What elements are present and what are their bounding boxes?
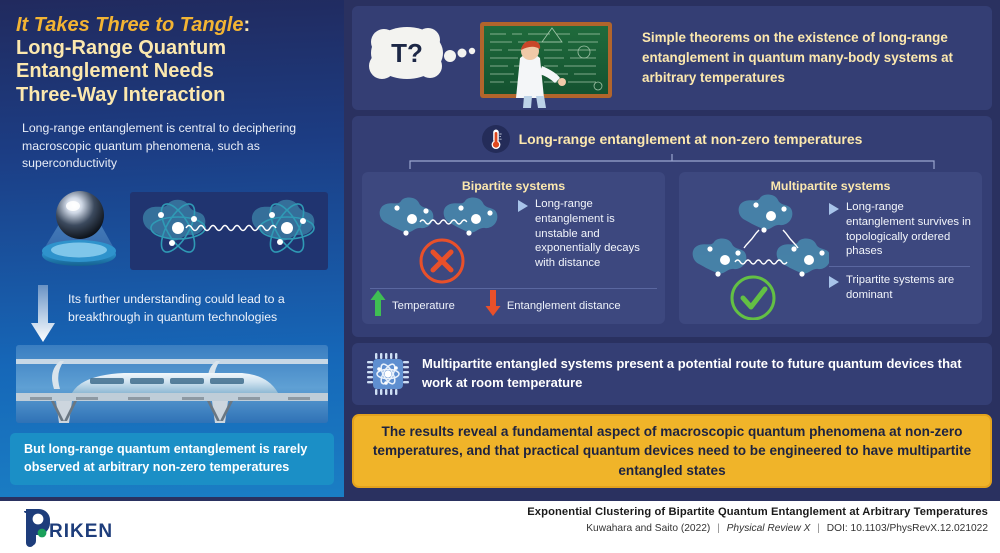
rarely-observed-text: But long-range quantum entanglement is r…: [24, 441, 320, 477]
paper-title: Exponential Clustering of Bipartite Quan…: [527, 506, 988, 518]
headline-emphasis: It Takes Three to Tangle: [16, 14, 243, 36]
bullet-divider: [829, 266, 970, 267]
multipartite-title: Multipartite systems: [687, 179, 974, 193]
two-atoms-wavy-link-icon: [370, 195, 516, 277]
legend-entanglement-distance: Entanglement distance: [485, 290, 621, 321]
thermometer-icon: [482, 125, 510, 153]
paper-authors: Kuwahara and Saito (2022): [586, 523, 710, 534]
maglev-train-icon: [16, 345, 328, 423]
headline-line-4: Three-Way Interaction: [16, 84, 328, 107]
two-entangled-atoms-icon: [130, 192, 328, 270]
theorem-panel: T?: [352, 6, 992, 110]
mid-panel-heading-row: Long-range entanglement at non-zero temp…: [362, 124, 982, 154]
bipartite-bullets: Long-range entanglement is unstable and …: [516, 195, 657, 277]
bipartite-title: Bipartite systems: [370, 179, 657, 193]
branch-connector: [362, 154, 982, 170]
theorem-text: Simple theorems on the existence of long…: [642, 28, 992, 88]
quantum-chip-text: Multipartite entangled systems present a…: [422, 355, 978, 393]
legend-temperature-label: Temperature: [392, 300, 455, 312]
bullet-item: Tripartite systems are dominant: [829, 273, 974, 303]
quantum-chip-icon: [366, 352, 410, 396]
footer-divider: [0, 497, 1000, 501]
left-column: It Takes Three to Tangle: Long-Range Qua…: [0, 0, 344, 497]
bipartite-legend: Temperature Entanglement distance: [370, 288, 657, 318]
red-cross-circle-icon: [421, 240, 463, 282]
up-arrow-green-icon: [370, 290, 386, 321]
rarely-observed-callout: But long-range quantum entanglement is r…: [10, 433, 334, 485]
triangle-bullet-icon: [829, 203, 839, 215]
meta-separator-1: |: [713, 523, 724, 534]
riken-logo: RIKEN: [16, 507, 146, 547]
levitation-visual-row: [16, 190, 328, 270]
headline-colon: :: [243, 14, 250, 36]
footer: RIKEN Exponential Clustering of Bipartit…: [0, 497, 1000, 553]
multipartite-bullets: Long-range entanglement survives in topo…: [829, 194, 974, 318]
paper-journal: Physical Review X: [727, 523, 811, 534]
multipartite-systems-panel: Multipartite systems: [679, 172, 982, 324]
results-callout: The results reveal a fundamental aspect …: [352, 414, 992, 488]
triangle-bullet-icon: [518, 200, 528, 212]
meta-separator-2: |: [813, 523, 824, 534]
down-arrow-icon: [30, 285, 56, 343]
bullet-item: Long-range entanglement survives in topo…: [829, 200, 974, 259]
three-atoms-triangle-link-icon: [687, 194, 829, 318]
further-understanding-text: Its further understanding could lead to …: [68, 291, 330, 327]
down-arrow-red-icon: [485, 290, 501, 321]
green-check-circle-icon: [732, 277, 774, 319]
mid-panel-heading: Long-range entanglement at non-zero temp…: [519, 131, 863, 147]
non-zero-temperature-panel: Long-range entanglement at non-zero temp…: [352, 116, 992, 337]
lead-paragraph: Long-range entanglement is central to de…: [16, 120, 328, 173]
thought-bubble-label: T?: [391, 38, 423, 68]
infographic-poster: It Takes Three to Tangle: Long-Range Qua…: [0, 0, 1000, 553]
bipartite-systems-panel: Bipartite systems: [362, 172, 665, 324]
bullet-text: Long-range entanglement survives in topo…: [846, 200, 974, 259]
legend-distance-label: Entanglement distance: [507, 300, 621, 312]
bullet-text: Long-range entanglement is unstable and …: [535, 197, 657, 271]
results-text: The results reveal a fundamental aspect …: [370, 422, 974, 479]
paper-doi: DOI: 10.1103/PhysRevX.12.021022: [827, 523, 988, 534]
right-column: T?: [350, 0, 1000, 497]
quantum-chip-panel: Multipartite entangled systems present a…: [352, 343, 992, 405]
riken-logo-text: RIKEN: [49, 521, 113, 542]
triangle-bullet-icon: [829, 276, 839, 288]
systems-comparison-row: Bipartite systems: [362, 172, 982, 324]
magnetic-levitation-sphere-icon: [34, 190, 129, 272]
further-understanding-note: Its further understanding could lead to …: [16, 285, 328, 347]
citation-block: Exponential Clustering of Bipartite Quan…: [527, 506, 988, 534]
legend-temperature: Temperature: [370, 290, 455, 321]
page-title: It Takes Three to Tangle: Long-Range Qua…: [16, 14, 328, 107]
bullet-text: Tripartite systems are dominant: [846, 273, 974, 303]
scientist-at-blackboard-icon: T?: [352, 8, 642, 108]
paper-meta: Kuwahara and Saito (2022) | Physical Rev…: [527, 523, 988, 534]
bullet-item: Long-range entanglement is unstable and …: [518, 197, 657, 271]
headline-line-3: Entanglement Needs: [16, 60, 328, 83]
headline-line-2: Long-Range Quantum: [16, 37, 328, 60]
